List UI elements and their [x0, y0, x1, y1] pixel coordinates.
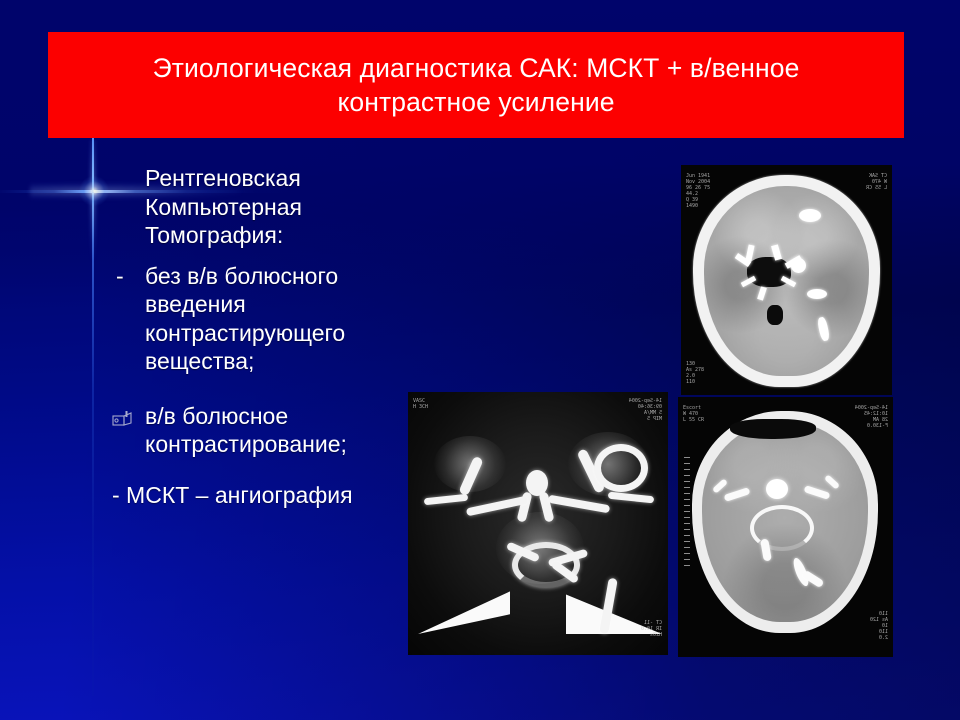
ct-image-non-contrast-axial: Jun 1941 Nov 2004 96 26 75 44.2 Q 39 149…	[681, 165, 892, 395]
heading-line-3: Томография:	[104, 221, 434, 250]
cortical-hyperdensity-right	[799, 205, 825, 227]
skull-composite	[681, 165, 892, 395]
bullet-2-text-1: в/в болюсное	[145, 403, 288, 429]
slide-title-banner: Этиологическая диагностика САК: МСКТ + в…	[48, 32, 904, 138]
bullet-2-line-2: контрастирование;	[104, 430, 434, 459]
bullet-1-line-4: вещества;	[104, 347, 434, 376]
cta-mip-image-circle-of-willis: VASC H 3CH 14-Sep-2004 09:36:40 5 MM/A M…	[408, 392, 668, 655]
bullet-1-line-2: введения	[104, 290, 434, 319]
right-ica-siphon	[594, 444, 648, 492]
bullet-1-line-1: - без в/в болюсного	[104, 262, 434, 291]
presentation-slide: Этиологическая диагностика САК: МСКТ + в…	[0, 0, 960, 720]
slide-title: Этиологическая диагностика САК: МСКТ + в…	[139, 51, 814, 120]
spacer	[104, 459, 434, 481]
slide-body: Рентгеновская Компьютерная Томография: -…	[104, 164, 434, 509]
enhancing-aneurysm	[791, 258, 806, 273]
enhancing-basilar-artery	[766, 479, 788, 499]
heading-line-2: Компьютерная	[104, 193, 434, 222]
open-mailbox-icon	[112, 407, 134, 426]
dash-bullet-marker: -	[116, 262, 124, 291]
spacer	[104, 250, 434, 262]
heading-line-1: Рентгеновская	[104, 164, 434, 193]
spacer	[104, 376, 434, 402]
enhancing-circle-of-willis	[750, 505, 814, 551]
frontal-sinus	[730, 419, 816, 439]
cortical-hyperdensity-lateral	[807, 287, 831, 303]
ct-image-contrast-enhanced-axial: Escort W 470 L 55 CR 14-Sep-2004 10:12:4…	[678, 397, 893, 657]
bullet-3: - МСКТ – ангиография	[104, 481, 434, 510]
temporal-sulcal-blood	[817, 317, 839, 347]
bullet-1-line-3: контрастирующего	[104, 319, 434, 348]
scale-ruler	[684, 457, 690, 569]
bullet-1-text-1: без в/в болюсного	[145, 263, 338, 289]
skull-composite	[678, 397, 893, 657]
fourth-ventricle	[767, 305, 783, 325]
bullet-2-line-1: в/в болюсное	[104, 402, 434, 431]
